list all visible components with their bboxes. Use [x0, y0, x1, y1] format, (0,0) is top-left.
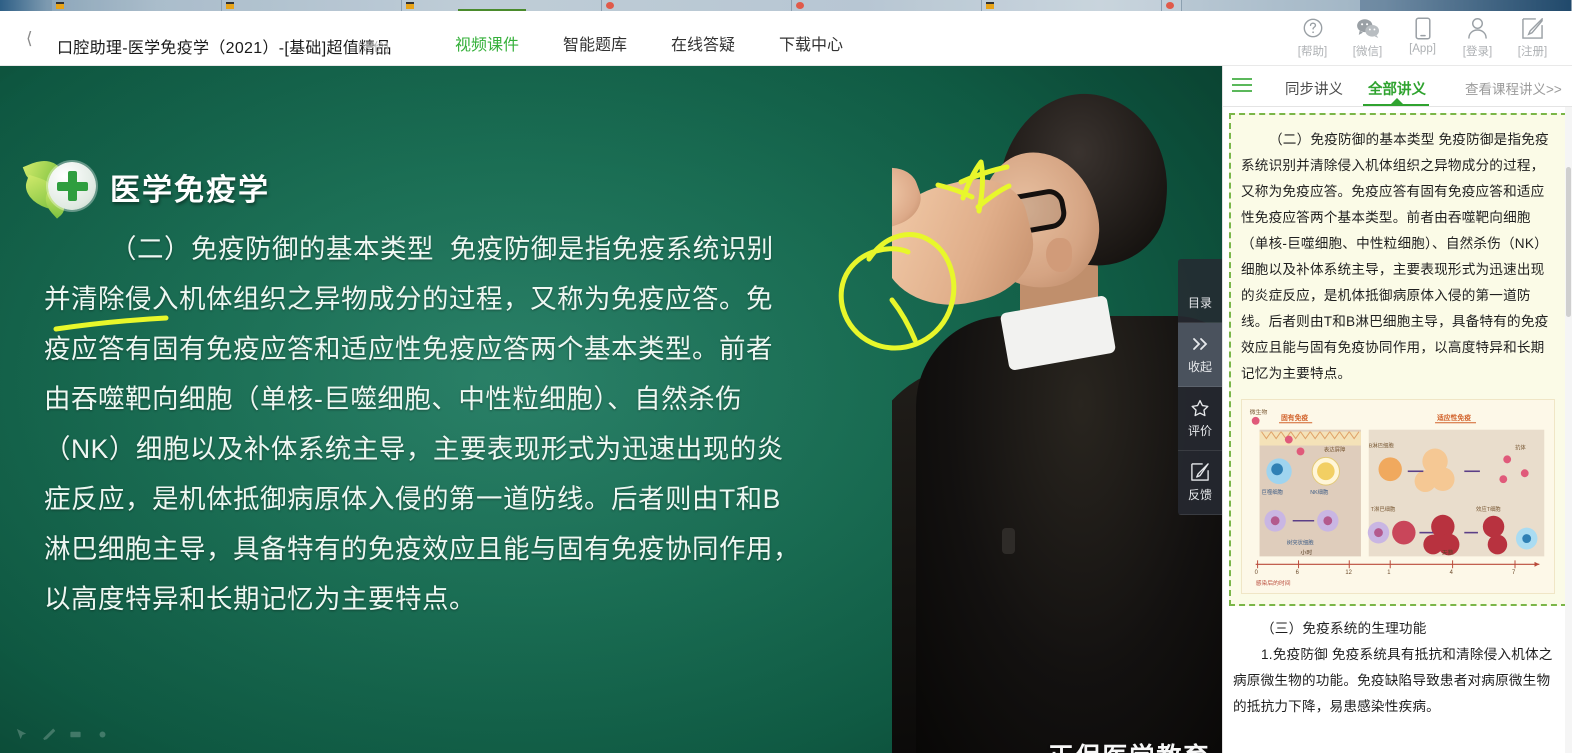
rail-button-rate-label: 评价 [1188, 422, 1212, 439]
svg-text:表达屏障: 表达屏障 [1324, 445, 1346, 453]
browser-tab[interactable] [52, 0, 222, 11]
svg-text:微生物: 微生物 [1250, 408, 1268, 416]
help-action[interactable]: [帮助] [1285, 16, 1340, 59]
svg-text:巨噬细胞: 巨噬细胞 [1262, 488, 1284, 496]
undo-icon[interactable] [95, 727, 110, 742]
tab-sync-notes[interactable]: 同步讲义 [1285, 78, 1343, 99]
wechat-action[interactable]: [微信] [1340, 16, 1395, 59]
lapel-mic [1002, 528, 1015, 554]
rail-button-rate[interactable]: 评价 [1178, 387, 1222, 451]
green-cross-leaf-logo-icon [24, 158, 98, 216]
grid-icon [1191, 271, 1209, 289]
slide-line: （二）免疫防御的基本类型 免疫防御是指免疫系统识别 [44, 224, 924, 274]
header-action-group: [帮助] [微信] [App] [1285, 16, 1560, 59]
star-icon [1191, 399, 1209, 417]
rate-course-link[interactable]: [评价] [358, 38, 389, 55]
rail-button-feedback[interactable]: 反馈 [1178, 451, 1222, 515]
svg-text:T淋巴细胞: T淋巴细胞 [1371, 505, 1396, 513]
rail-button-catalog[interactable]: 目录 [1178, 259, 1222, 323]
slide-text-body: （二）免疫防御的基本类型 免疫防御是指免疫系统识别 并清除侵入机体组织之异物成分… [44, 224, 924, 624]
rail-button-collapse[interactable]: 收起 [1178, 323, 1222, 387]
svg-text:1: 1 [1387, 570, 1390, 576]
slide-line: 以高度特异和长期记忆为主要特点。 [44, 574, 924, 624]
notes-scrollbar-track[interactable] [1565, 107, 1572, 753]
tab-question-bank[interactable]: 智能题库 [563, 31, 627, 55]
browser-tab[interactable] [982, 0, 1162, 11]
immunity-timeline-diagram: 0612 147 感染后的时间 小时天数 微生物 固有免疫适应性免疫 巨噬细胞N… [1241, 399, 1555, 594]
edit-square-icon [1191, 463, 1209, 481]
slide-line: 淋巴细胞主导，具备特有的免疫效应且能与固有免疫协同作用， [44, 524, 924, 574]
tab-online-qa[interactable]: 在线答疑 [671, 31, 735, 55]
wechat-action-label: [微信] [1353, 43, 1382, 59]
hamburger-icon[interactable] [1232, 78, 1252, 92]
svg-text:抗体: 抗体 [1515, 443, 1526, 451]
site-header: ⟨ 口腔助理-医学免疫学（2021）-[基础]超值精品 [评价] 视频课件 智能… [0, 11, 1572, 66]
login-action-label: [登录] [1463, 43, 1492, 59]
eraser-icon[interactable] [68, 727, 83, 742]
mobile-app-icon [1415, 16, 1431, 40]
app-action-label: [App] [1409, 43, 1436, 55]
notes-tail-block: （三）免疫系统的生理功能 1.免疫防御 免疫系统具有抵抗和清除侵入机体之病原微生… [1223, 606, 1572, 720]
browser-tab[interactable] [222, 0, 402, 11]
notes-tail-paragraph: 1.免疫防御 免疫系统具有抵抗和清除侵入机体之病原微生物的功能。免疫缺陷导致患者… [1233, 642, 1563, 720]
register-pencil-icon [1522, 16, 1543, 40]
browser-tab[interactable] [602, 0, 792, 11]
highlighted-note-block: （二）免疫防御的基本类型 免疫防御是指免疫系统识别并清除侵入机体组织之异物成分的… [1229, 113, 1567, 606]
lecture-notes-panel: 同步讲义 全部讲义 查看课程讲义>> （二）免疫防御的基本类型 免疫防御是指免疫… [1222, 66, 1572, 753]
notes-tab-bar: 同步讲义 全部讲义 查看课程讲义>> [1223, 66, 1572, 107]
svg-text:树突状细胞: 树突状细胞 [1287, 538, 1314, 546]
pointer-icon[interactable] [14, 727, 29, 742]
tab-video-courseware[interactable]: 视频课件 [455, 31, 519, 55]
notes-tab-underline [1363, 104, 1429, 106]
slide-logo: 医学免疫学 [24, 158, 270, 216]
slide-line: 并清除侵入机体组织之异物成分的过程，又称为免疫应答。免 [44, 274, 924, 324]
instructor-figure [892, 66, 1222, 753]
user-icon [1467, 16, 1488, 40]
notes-tab-caret-icon [1391, 98, 1403, 104]
app-action[interactable]: [App] [1395, 16, 1450, 59]
page-title: 口腔助理-医学免疫学（2021）-[基础]超值精品 [57, 34, 392, 58]
login-action[interactable]: [登录] [1450, 16, 1505, 59]
help-action-label: [帮助] [1298, 43, 1327, 59]
svg-text:NK细胞: NK细胞 [1310, 488, 1329, 496]
annotation-toolbar [14, 727, 110, 742]
highlighted-note-text: （二）免疫防御的基本类型 免疫防御是指免疫系统识别并清除侵入机体组织之异物成分的… [1241, 127, 1555, 387]
rail-button-feedback-label: 反馈 [1188, 486, 1212, 503]
register-action-label: [注册] [1518, 43, 1547, 59]
browser-tab[interactable] [1360, 0, 1572, 11]
browser-tab-strip[interactable] [0, 0, 1572, 11]
register-action[interactable]: [注册] [1505, 16, 1560, 59]
slide-logo-text: 医学免疫学 [110, 165, 270, 209]
svg-text:适应性免疫: 适应性免疫 [1437, 413, 1471, 422]
notes-scrollbar-thumb[interactable] [1566, 167, 1571, 317]
slide-line: 由吞噬靶向细胞（单核-巨噬细胞、中性粒细胞）、自然杀伤 [44, 374, 924, 424]
svg-text:天数: 天数 [1442, 548, 1454, 556]
svg-text:7: 7 [1512, 570, 1515, 576]
svg-text:B淋巴细胞: B淋巴细胞 [1369, 441, 1395, 449]
tab-download-center[interactable]: 下载中心 [779, 31, 843, 55]
view-course-notes-link[interactable]: 查看课程讲义>> [1465, 78, 1562, 98]
pen-icon[interactable] [41, 727, 56, 742]
help-circle-icon [1302, 16, 1324, 40]
slide-line: 疫应答有固有免疫应答和适应性免疫应答两个基本类型。前者 [44, 324, 924, 374]
notes-tail-heading: （三）免疫系统的生理功能 [1233, 616, 1563, 642]
svg-text:感染后的时间: 感染后的时间 [1256, 579, 1291, 587]
brand-watermark: 正保医学教育网 www.med66.com [986, 737, 1222, 753]
watermark-brand-name: 正保医学教育网 [1048, 737, 1222, 753]
notes-scroll-body[interactable]: （二）免疫防御的基本类型 免疫防御是指免疫系统识别并清除侵入机体组织之异物成分的… [1223, 107, 1572, 753]
browser-tab[interactable] [792, 0, 982, 11]
wechat-icon [1356, 16, 1380, 40]
browser-tab[interactable] [1162, 0, 1182, 11]
svg-text:效应T细胞: 效应T细胞 [1476, 505, 1501, 513]
collapse-double-chevron-icon [1191, 335, 1209, 353]
rail-button-catalog-label: 目录 [1188, 294, 1212, 311]
rail-button-collapse-label: 收起 [1188, 358, 1212, 375]
main-nav-tabs: 视频课件 智能题库 在线答疑 下载中心 [455, 31, 843, 55]
svg-text:小时: 小时 [1301, 548, 1313, 556]
svg-text:12: 12 [1345, 570, 1351, 576]
player-tool-rail: 目录 收起 评价 反馈 [1178, 259, 1222, 515]
video-player[interactable]: 医学免疫学 （二）免疫防御的基本类型 免疫防御是指免疫系统识别 并清除侵入机体组… [0, 66, 1222, 753]
slide-line: 症反应，是机体抵御病原体入侵的第一道防线。后者则由T和B [44, 474, 924, 524]
slide-line: （NK）细胞以及补体系统主导，主要表现形式为迅速出现的炎 [44, 424, 924, 474]
chevron-left-icon[interactable]: ⟨ [26, 33, 38, 45]
tab-all-notes[interactable]: 全部讲义 [1368, 78, 1426, 99]
svg-text:固有免疫: 固有免疫 [1281, 413, 1308, 422]
